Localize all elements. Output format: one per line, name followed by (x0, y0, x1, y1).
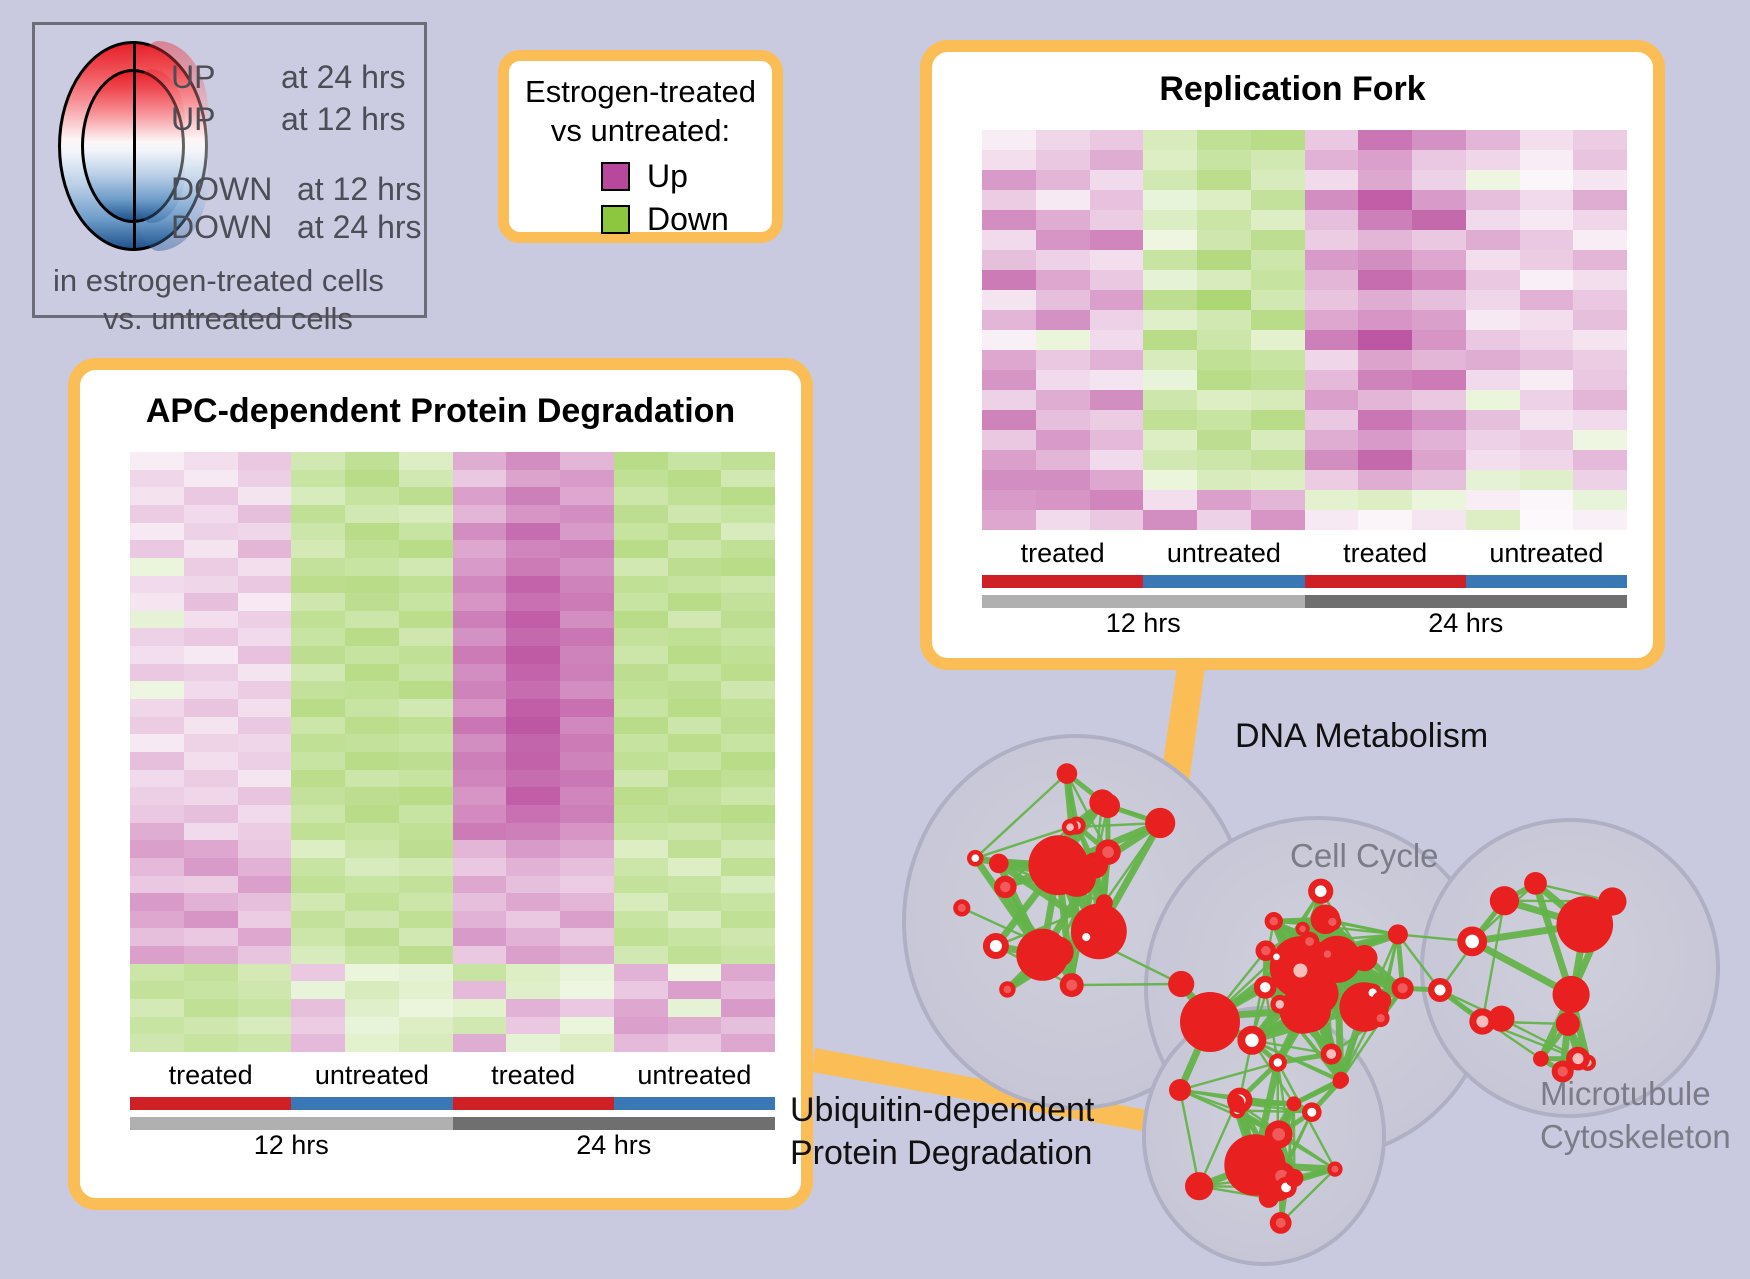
column-group-label: treated (130, 1060, 291, 1091)
heatmap-cell (506, 628, 560, 646)
heatmap-cell (982, 430, 1036, 450)
heatmap-cell (399, 470, 453, 488)
cluster-label-microtubule: Microtubule (1540, 1075, 1711, 1113)
heatmap-cell (1520, 230, 1574, 250)
heatmap-cell (1466, 430, 1520, 450)
heatmap-cell (453, 823, 507, 841)
network-node[interactable] (1043, 937, 1074, 968)
heatmap-cell (1358, 370, 1412, 390)
heatmap-cell (184, 628, 238, 646)
heatmap-cell (1090, 350, 1144, 370)
heatmap-cell (1466, 450, 1520, 470)
network-node[interactable] (1556, 1012, 1580, 1036)
network-node[interactable] (1524, 872, 1547, 895)
heatmap-cell (453, 734, 507, 752)
heatmap-cell (1412, 250, 1466, 270)
heatmap-cell (560, 946, 614, 964)
heatmap-cell (1466, 470, 1520, 490)
network-node-core (1573, 1053, 1584, 1064)
heatmap-cell (399, 699, 453, 717)
heatmap-cell (1305, 330, 1359, 350)
heatmap-cell (560, 981, 614, 999)
heatmap-cell (345, 770, 399, 788)
heatmap-cell (614, 787, 668, 805)
heatmap-cell (453, 611, 507, 629)
heatmap-cell (453, 628, 507, 646)
heatmap-cell (1251, 230, 1305, 250)
time-group-label: 24 hrs (453, 1130, 776, 1161)
heatmap-cell (1466, 510, 1520, 530)
heatmap-cell (982, 190, 1036, 210)
heatmap-cell (1358, 150, 1412, 170)
heatmap-cell (506, 893, 560, 911)
heatmap-cell (238, 699, 292, 717)
heatmap-cell (453, 664, 507, 682)
cluster-label-dna-metabolism: DNA Metabolism (1235, 717, 1488, 756)
heatmap-cell (1520, 270, 1574, 290)
heatmap-cell (1573, 290, 1627, 310)
heatmap-cell (238, 523, 292, 541)
heatmap-cell (614, 487, 668, 505)
time-bar (1305, 595, 1628, 608)
heatmap-cell (560, 893, 614, 911)
heatmap-cell (291, 487, 345, 505)
heatmap-cell (721, 487, 775, 505)
heatmap-cell (291, 805, 345, 823)
network-node-core (1273, 954, 1280, 961)
heatmap-cell (1251, 310, 1305, 330)
heatmap-cell (130, 505, 184, 523)
heatmap-cell (560, 681, 614, 699)
heatmap-cell (238, 928, 292, 946)
heatmap-cell (614, 664, 668, 682)
heatmap-cell (1520, 450, 1574, 470)
legend-item-up: Up (601, 158, 688, 195)
heatmap-cell (130, 858, 184, 876)
heatmap-cell (1143, 450, 1197, 470)
up-color-swatch (601, 162, 630, 191)
heatmap-cell (1036, 370, 1090, 390)
heatmap-cell (1197, 290, 1251, 310)
heatmap-cell (1412, 290, 1466, 310)
heatmap-cell (560, 523, 614, 541)
heatmap-cell (560, 611, 614, 629)
heatmap-cell (506, 734, 560, 752)
heatmap-cell (721, 787, 775, 805)
heatmap-cell (1090, 430, 1144, 450)
heatmap-cell (184, 787, 238, 805)
heatmap-cell (1573, 390, 1627, 410)
heatmap-cell (345, 646, 399, 664)
heatmap-cell (721, 664, 775, 682)
heatmap-cell (130, 664, 184, 682)
heatmap-cell (721, 699, 775, 717)
heatmap-cell (1036, 190, 1090, 210)
heatmap-cell (291, 628, 345, 646)
heatmap-cell (130, 787, 184, 805)
network-node-core (1398, 983, 1408, 993)
heatmap-cell (1520, 410, 1574, 430)
heatmap-cell (1090, 290, 1144, 310)
network-node-core (1435, 985, 1446, 996)
heatmap-cell (668, 787, 722, 805)
heatmap-cell (291, 981, 345, 999)
heatmap-cell (399, 576, 453, 594)
heatmap-cell (982, 250, 1036, 270)
network-node[interactable] (1388, 924, 1408, 944)
heatmap-cell (238, 681, 292, 699)
heatmap-cell (1520, 470, 1574, 490)
heatmap-cell (721, 999, 775, 1017)
network-node-core (1004, 986, 1012, 994)
network-node[interactable] (1228, 1095, 1244, 1111)
heatmap-cell (1358, 290, 1412, 310)
network-node[interactable] (1057, 763, 1078, 784)
heatmap-cell (399, 981, 453, 999)
heatmap-cell (345, 858, 399, 876)
heatmap-cell (668, 752, 722, 770)
heatmap-cell (506, 664, 560, 682)
network-node-core (1066, 823, 1074, 831)
heatmap-cell (1358, 350, 1412, 370)
heatmap-cell (560, 770, 614, 788)
heatmap-cell (1520, 490, 1574, 510)
heatmap-cell (345, 576, 399, 594)
network-node[interactable] (1088, 859, 1103, 874)
heatmap-cell (1090, 410, 1144, 430)
heatmap-cell (1573, 270, 1627, 290)
heatmap-cell (184, 752, 238, 770)
heatmap-cell (668, 734, 722, 752)
network-node[interactable] (1071, 904, 1127, 960)
heatmap-cell (1573, 430, 1627, 450)
heatmap-cell (1358, 130, 1412, 150)
network-node[interactable] (1533, 1051, 1549, 1067)
time-bar (982, 595, 1305, 608)
heatmap-cell (238, 787, 292, 805)
time-group-label: 24 hrs (1305, 608, 1628, 639)
heatmap-cell (184, 523, 238, 541)
heatmap-cell (560, 505, 614, 523)
heatmap-cell (184, 576, 238, 594)
heatmap-cell (1412, 490, 1466, 510)
heatmap-cell (668, 699, 722, 717)
heatmap-cell (238, 946, 292, 964)
heatmap-cell (1251, 390, 1305, 410)
heatmap-cell (1197, 470, 1251, 490)
heatmap-cell (291, 699, 345, 717)
heatmap-cell (1573, 490, 1627, 510)
heatmap-cell (1466, 290, 1520, 310)
heatmap-cell (345, 452, 399, 470)
heatmap-cell (1090, 190, 1144, 210)
heatmap-cell (184, 593, 238, 611)
heatmap-cell (982, 130, 1036, 150)
heatmap-cell (560, 964, 614, 982)
heatmap-cell (560, 452, 614, 470)
heatmap-cell (1305, 390, 1359, 410)
column-group-label: untreated (614, 1060, 775, 1091)
heatmap-cell (291, 505, 345, 523)
heatmap-cell (1036, 450, 1090, 470)
updown-legend-card: Estrogen-treated vs untreated: Up Down (498, 50, 783, 243)
heatmap-cell (560, 487, 614, 505)
network-node-core (1377, 1014, 1385, 1022)
heatmap-cell (506, 928, 560, 946)
heatmap-cell (1305, 350, 1359, 370)
legend-footer-line-2: vs. untreated cells (103, 301, 353, 337)
heatmap-cell (1573, 410, 1627, 430)
heatmap-cell (1573, 450, 1627, 470)
heatmap-cell (238, 1017, 292, 1035)
legend-time-down-24: at 24 hrs (297, 209, 422, 246)
heatmap-cell (721, 523, 775, 541)
heatmap-cell (721, 611, 775, 629)
heatmap-cell (184, 770, 238, 788)
heatmap-cell (721, 717, 775, 735)
heatmap-cell (506, 717, 560, 735)
heatmap-cell (614, 470, 668, 488)
heatmap-cell (130, 646, 184, 664)
heatmap-cell (1251, 130, 1305, 150)
network-node[interactable] (1096, 894, 1113, 911)
heatmap-cell (1090, 170, 1144, 190)
heatmap-cell (345, 717, 399, 735)
heatmap-cell (238, 611, 292, 629)
heatmap-cell (560, 876, 614, 894)
heatmap-cell (560, 540, 614, 558)
network-node[interactable] (1287, 1096, 1302, 1111)
network-node[interactable] (1180, 992, 1240, 1052)
column-group-label: untreated (1466, 538, 1627, 569)
network-node-core (1261, 946, 1270, 955)
heatmap-cell (1305, 230, 1359, 250)
heatmap-cell (1197, 190, 1251, 210)
heatmap-cell (506, 752, 560, 770)
heatmap-cell (345, 752, 399, 770)
heatmap-cell (614, 840, 668, 858)
network-node[interactable] (1285, 1169, 1303, 1187)
heatmap-cell (1305, 210, 1359, 230)
heatmap-cell (238, 593, 292, 611)
heatmap-cell (1143, 210, 1197, 230)
heatmap-cell (453, 593, 507, 611)
heatmap-cell (345, 611, 399, 629)
heatmap-cell (1466, 210, 1520, 230)
legend-footer-line-1: in estrogen-treated cells (53, 263, 384, 299)
network-node-core (1465, 935, 1479, 949)
heatmap-cell (1305, 270, 1359, 290)
heatmap-cell (721, 876, 775, 894)
heatmap-cell (1520, 330, 1574, 350)
heatmap-cell (1197, 170, 1251, 190)
heatmap-cell (291, 664, 345, 682)
heatmap-cell (1305, 150, 1359, 170)
heatmap-cell (506, 593, 560, 611)
heatmap-cell (399, 858, 453, 876)
network-node[interactable] (1333, 1072, 1349, 1088)
heatmap-cell (238, 717, 292, 735)
heatmap-cell (982, 390, 1036, 410)
heatmap-cell (453, 540, 507, 558)
network-graph (880, 690, 1740, 1279)
heatmap-cell (453, 840, 507, 858)
condition-bar (291, 1097, 452, 1110)
heatmap-cell (399, 823, 453, 841)
heatmap-cell (1358, 230, 1412, 250)
heatmap-cell (721, 628, 775, 646)
heatmap-cell (668, 823, 722, 841)
heatmap-cell (1305, 410, 1359, 430)
heatmap-cell (1090, 470, 1144, 490)
heatmap-cell (1143, 470, 1197, 490)
heatmap-cell (345, 964, 399, 982)
heatmap-cell (1412, 410, 1466, 430)
heatmap-cell (130, 611, 184, 629)
heatmap-cell (668, 858, 722, 876)
apc-degradation-time-labels: 12 hrs24 hrs (130, 1130, 775, 1161)
heatmap-cell (1251, 290, 1305, 310)
network-node-core (1066, 980, 1077, 991)
network-node[interactable] (1168, 971, 1194, 997)
heatmap-cell (1412, 150, 1466, 170)
heatmap-cell (721, 1017, 775, 1035)
heatmap-cell (506, 805, 560, 823)
heatmap-cell (614, 999, 668, 1017)
heatmap-cell (399, 664, 453, 682)
heatmap-cell (291, 734, 345, 752)
network-node[interactable] (1553, 976, 1590, 1013)
heatmap-cell (560, 646, 614, 664)
heatmap-cell (560, 928, 614, 946)
heatmap-cell (291, 452, 345, 470)
network-node[interactable] (989, 854, 1009, 874)
network-node[interactable] (1145, 808, 1175, 838)
column-group-label: untreated (291, 1060, 452, 1091)
network-node[interactable] (1490, 886, 1519, 915)
heatmap-cell (399, 611, 453, 629)
heatmap-cell (291, 964, 345, 982)
heatmap-cell (982, 370, 1036, 390)
heatmap-cell (130, 487, 184, 505)
heatmap-cell (1251, 430, 1305, 450)
heatmap-cell (614, 752, 668, 770)
heatmap-cell (453, 487, 507, 505)
heatmap-cell (1090, 490, 1144, 510)
heatmap-cell (1305, 450, 1359, 470)
heatmap-cell (614, 928, 668, 946)
heatmap-cell (506, 823, 560, 841)
heatmap-cell (1412, 270, 1466, 290)
apc-degradation-title: APC-dependent Protein Degradation (80, 392, 801, 431)
heatmap-cell (130, 911, 184, 929)
heatmap-cell (721, 823, 775, 841)
heatmap-cell (184, 505, 238, 523)
heatmap-cell (238, 664, 292, 682)
heatmap-cell (668, 664, 722, 682)
heatmap-cell (399, 752, 453, 770)
condition-bar (1305, 575, 1466, 588)
heatmap-cell (1143, 190, 1197, 210)
network-node-core (1260, 982, 1270, 992)
heatmap-cell (1143, 370, 1197, 390)
heatmap-cell (1090, 310, 1144, 330)
network-node[interactable] (1169, 1079, 1191, 1101)
column-group-label: treated (453, 1060, 614, 1091)
heatmap-cell (184, 911, 238, 929)
heatmap-cell (184, 717, 238, 735)
heatmap-cell (291, 523, 345, 541)
condition-bar (130, 1097, 291, 1110)
heatmap-cell (614, 1034, 668, 1052)
heatmap-cell (668, 593, 722, 611)
heatmap-cell (506, 981, 560, 999)
legend-state-down-12: DOWN (171, 171, 272, 208)
heatmap-cell (184, 646, 238, 664)
heatmap-cell (560, 911, 614, 929)
heatmap-cell (1090, 210, 1144, 230)
heatmap-cell (1090, 130, 1144, 150)
heatmap-cell (1466, 150, 1520, 170)
heatmap-cell (614, 964, 668, 982)
heatmap-cell (1358, 330, 1412, 350)
heatmap-cell (1412, 510, 1466, 530)
network-node[interactable] (1185, 1172, 1213, 1200)
heatmap-cell (291, 558, 345, 576)
network-node[interactable] (1095, 794, 1120, 819)
heatmap-cell (1305, 170, 1359, 190)
network-node[interactable] (1598, 887, 1626, 915)
heatmap-cell (721, 1034, 775, 1052)
heatmap-cell (1573, 170, 1627, 190)
heatmap-cell (291, 911, 345, 929)
heatmap-cell (668, 911, 722, 929)
heatmap-cell (399, 593, 453, 611)
heatmap-cell (184, 540, 238, 558)
down-color-swatch (601, 205, 630, 234)
heatmap-cell (668, 999, 722, 1017)
heatmap-cell (668, 964, 722, 982)
heatmap-cell (506, 840, 560, 858)
network-node[interactable] (1372, 991, 1392, 1011)
network-node[interactable] (1351, 945, 1377, 971)
heatmap-cell (668, 770, 722, 788)
heatmap-cell (130, 576, 184, 594)
cluster-label-ubiquitin-line-2: Protein Degradation (790, 1134, 1092, 1173)
heatmap-cell (453, 981, 507, 999)
heatmap-cell (399, 540, 453, 558)
heatmap-cell (982, 310, 1036, 330)
heatmap-cell (721, 981, 775, 999)
time-group-label: 12 hrs (982, 608, 1305, 639)
heatmap-cell (345, 593, 399, 611)
heatmap-cell (614, 770, 668, 788)
heatmap-cell (668, 928, 722, 946)
heatmap-cell (1090, 370, 1144, 390)
heatmap-cell (668, 805, 722, 823)
heatmap-cell (453, 576, 507, 594)
heatmap-cell (982, 170, 1036, 190)
heatmap-cell (1573, 150, 1627, 170)
heatmap-cell (345, 928, 399, 946)
heatmap-cell (1090, 250, 1144, 270)
heatmap-cell (1358, 210, 1412, 230)
heatmap-cell (291, 823, 345, 841)
heatmap-cell (291, 999, 345, 1017)
network-node-core (1324, 950, 1331, 957)
network-node[interactable] (1259, 1188, 1279, 1208)
heatmap-cell (130, 470, 184, 488)
